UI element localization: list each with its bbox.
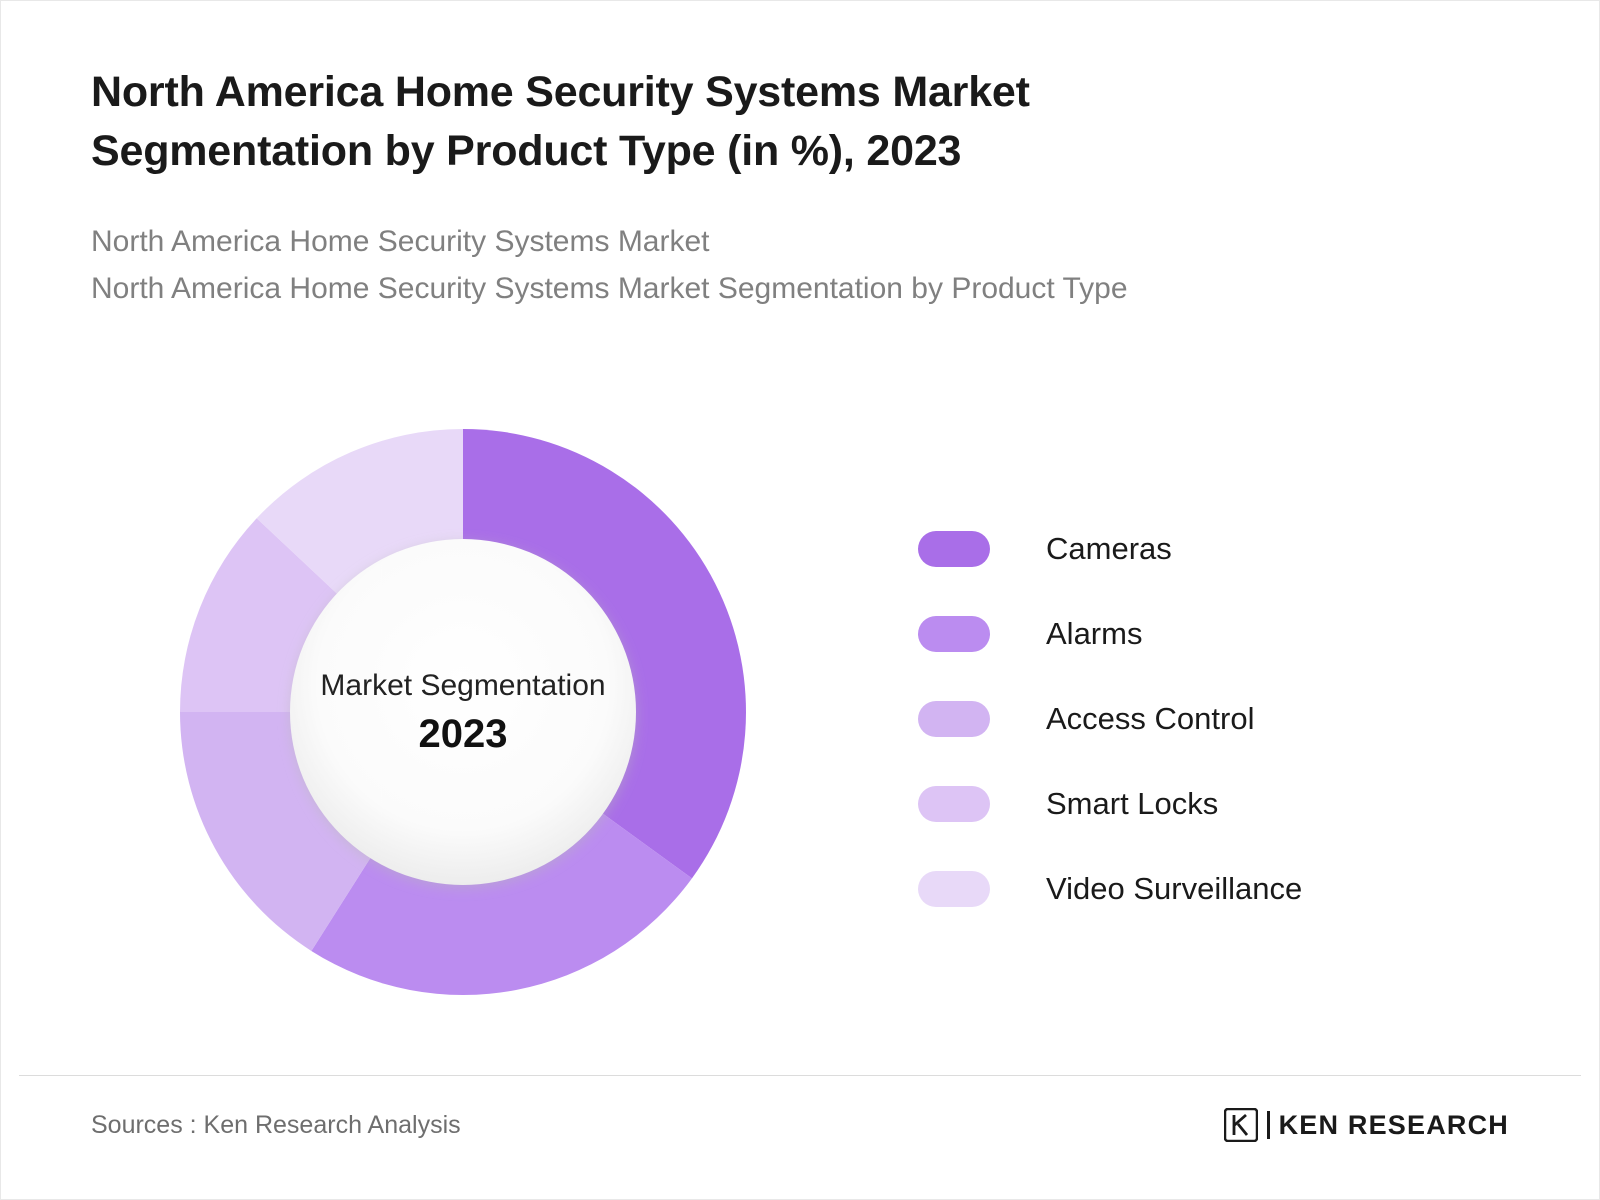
k-logo-icon bbox=[1224, 1108, 1258, 1142]
chart-page: North America Home Security Systems Mark… bbox=[0, 0, 1600, 1200]
legend-swatch-icon bbox=[918, 786, 990, 822]
chart-legend: CamerasAlarmsAccess ControlSmart LocksVi… bbox=[918, 506, 1438, 931]
brand-name: KEN RESEARCH bbox=[1279, 1110, 1509, 1141]
legend-swatch-icon bbox=[918, 701, 990, 737]
subtitle-line-2: North America Home Security Systems Mark… bbox=[91, 265, 1391, 312]
footer-divider bbox=[19, 1075, 1581, 1076]
header: North America Home Security Systems Mark… bbox=[91, 63, 1391, 312]
legend-item[interactable]: Access Control bbox=[918, 676, 1438, 761]
donut-svg bbox=[174, 423, 752, 1001]
legend-item[interactable]: Cameras bbox=[918, 506, 1438, 591]
legend-swatch-icon bbox=[918, 616, 990, 652]
legend-item[interactable]: Video Surveillance bbox=[918, 846, 1438, 931]
subtitle-block: North America Home Security Systems Mark… bbox=[91, 218, 1391, 313]
legend-label: Access Control bbox=[1046, 703, 1254, 734]
donut-center-hole bbox=[290, 539, 636, 885]
page-title: North America Home Security Systems Mark… bbox=[91, 63, 1271, 182]
legend-label: Alarms bbox=[1046, 618, 1142, 649]
legend-label: Smart Locks bbox=[1046, 788, 1218, 819]
legend-swatch-icon bbox=[918, 871, 990, 907]
subtitle-line-1: North America Home Security Systems Mark… bbox=[91, 218, 1391, 265]
legend-label: Video Surveillance bbox=[1046, 873, 1302, 904]
legend-swatch-icon bbox=[918, 531, 990, 567]
chart-area: Market Segmentation 2023 CamerasAlarmsAc… bbox=[1, 396, 1600, 1056]
brand-logo: KEN RESEARCH bbox=[1224, 1108, 1509, 1142]
legend-item[interactable]: Alarms bbox=[918, 591, 1438, 676]
brand-divider bbox=[1267, 1111, 1270, 1139]
footer: Sources : Ken Research Analysis KEN RESE… bbox=[91, 1095, 1509, 1155]
donut-chart: Market Segmentation 2023 bbox=[174, 423, 752, 1001]
sources-text: Sources : Ken Research Analysis bbox=[91, 1111, 461, 1140]
legend-item[interactable]: Smart Locks bbox=[918, 761, 1438, 846]
legend-label: Cameras bbox=[1046, 533, 1172, 564]
